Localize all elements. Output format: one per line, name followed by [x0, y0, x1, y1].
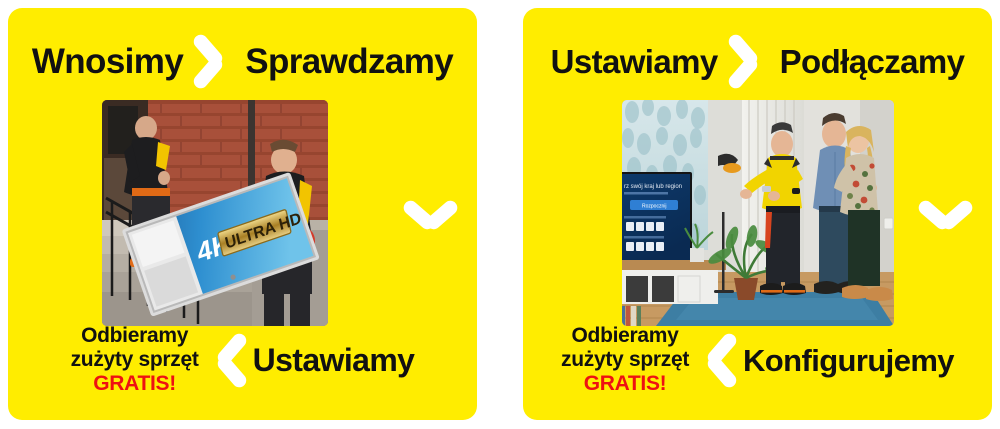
- chevron-right-icon: [193, 28, 235, 94]
- chevron-right-icon: [728, 28, 770, 94]
- pickup-line-1: Odbieramy: [572, 324, 679, 347]
- chevron-down-icon: [912, 200, 978, 242]
- pickup-gratis-label: GRATIS!: [561, 372, 689, 396]
- step-label-konfigurujemy: Konfigurujemy: [743, 345, 954, 376]
- installation-photo: rz swój kraj lub region Rozpocznij: [622, 100, 894, 326]
- svg-text:Rozpocznij: Rozpocznij: [642, 204, 666, 210]
- step-label-ustawiamy: Ustawiamy: [253, 344, 415, 376]
- pickup-gratis-label: GRATIS!: [71, 372, 199, 396]
- step-label-wnosimy: Wnosimy: [32, 44, 183, 79]
- pickup-note: Odbieramy zużyty sprzęt GRATIS!: [561, 324, 689, 396]
- pickup-line-1: Odbieramy: [81, 324, 188, 347]
- delivery-card: Wnosimy Sprawdzamy: [8, 8, 477, 420]
- chevron-left-icon: [205, 327, 247, 393]
- delivery-card-footer: Odbieramy zużyty sprzęt GRATIS! Ustawiam…: [8, 314, 477, 406]
- step-label-ustawiamy-header: Ustawiamy: [551, 45, 718, 78]
- delivery-photo: 4K ULTRA HD: [102, 100, 328, 326]
- pickup-line-2: zużyty sprzęt: [71, 348, 199, 371]
- delivery-card-header: Wnosimy Sprawdzamy: [8, 30, 477, 92]
- pickup-note: Odbieramy zużyty sprzęt GRATIS!: [71, 324, 199, 396]
- chevron-down-icon: [397, 200, 463, 242]
- pickup-line-2: zużyty sprzęt: [561, 348, 689, 371]
- service-steps-banner: Wnosimy Sprawdzamy: [0, 0, 1000, 429]
- chevron-left-icon: [695, 327, 737, 393]
- step-label-podlaczamy: Podłączamy: [780, 45, 965, 78]
- installation-card-footer: Odbieramy zużyty sprzęt GRATIS! Konfigur…: [523, 314, 992, 406]
- installation-card: Ustawiamy Podłączamy: [523, 8, 992, 420]
- step-label-sprawdzamy: Sprawdzamy: [245, 44, 453, 79]
- installation-card-header: Ustawiamy Podłączamy: [523, 30, 992, 92]
- svg-text:rz swój kraj lub region: rz swój kraj lub region: [624, 184, 682, 190]
